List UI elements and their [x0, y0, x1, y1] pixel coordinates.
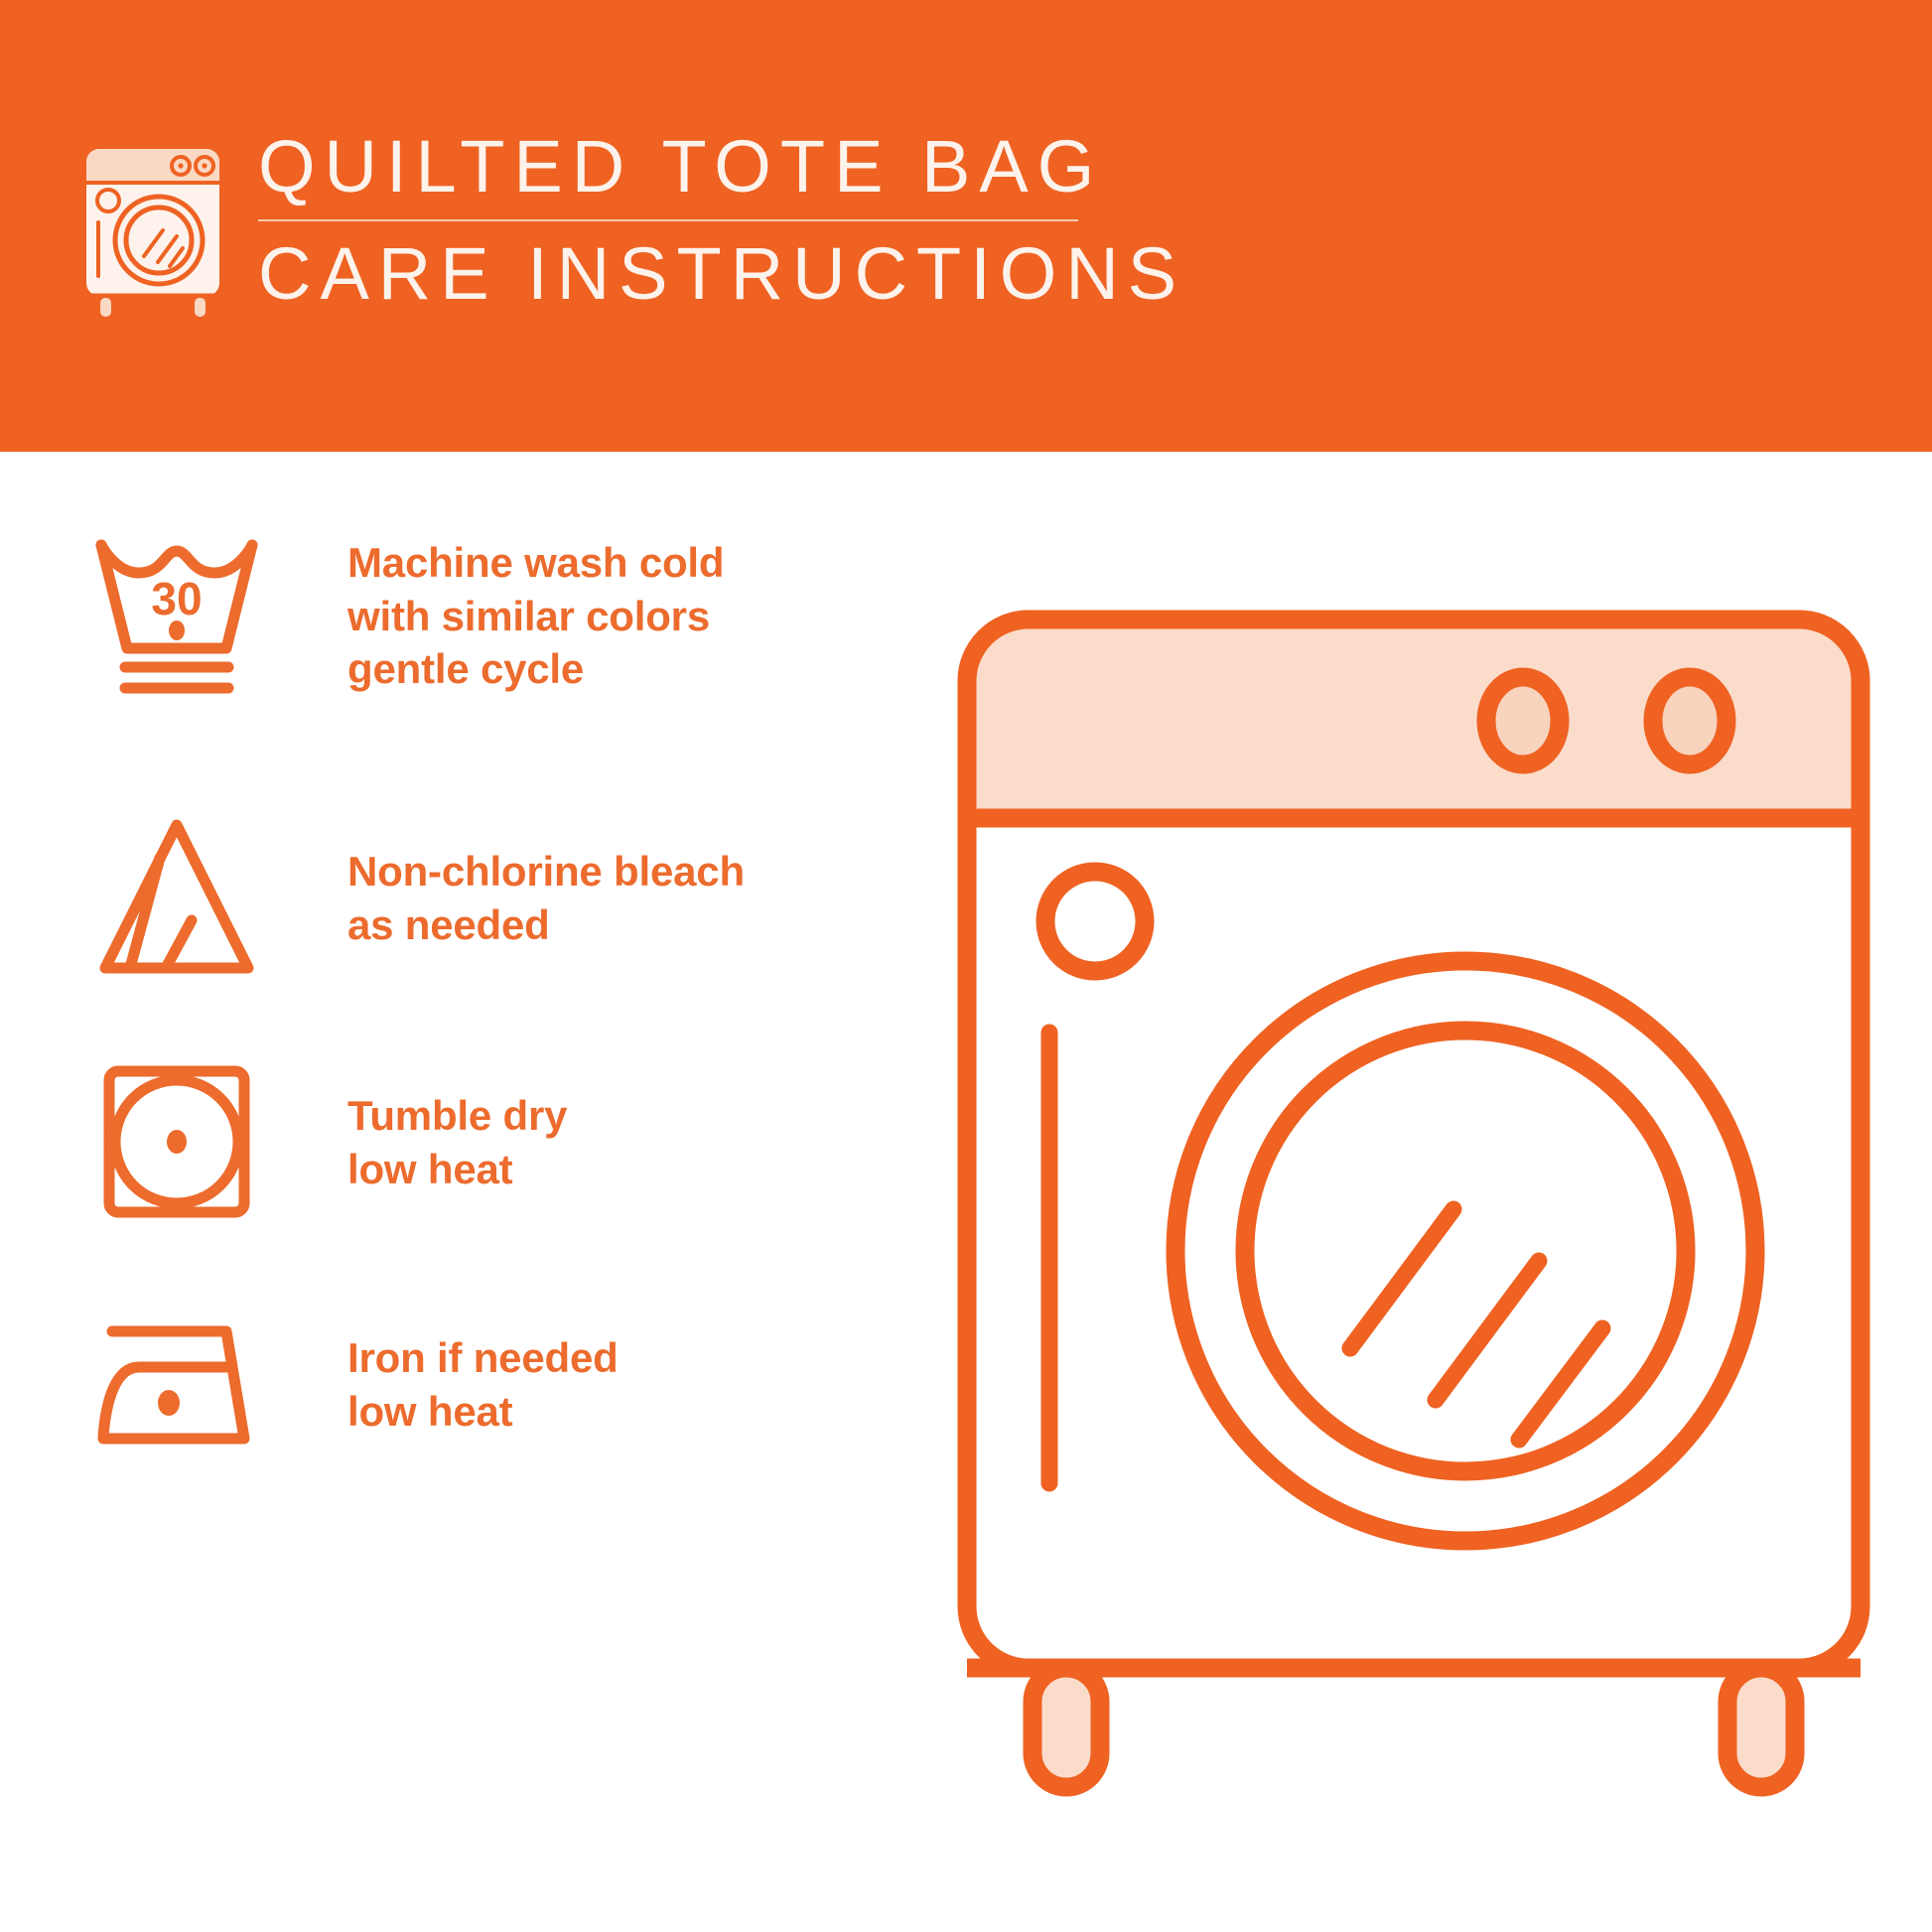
iron-low-heat-icon [77, 1298, 276, 1471]
tumble-dry-low-heat-icon [77, 1055, 276, 1229]
svg-text:30: 30 [151, 573, 202, 624]
header-content: QUILTED TOTE BAG CARE INSTRUCTIONS [77, 131, 1185, 320]
washing-machine-illustration [953, 606, 1876, 1827]
non-chlorine-bleach-triangle-icon [77, 811, 276, 985]
care-instructions-list: 30 Machine wash cold with similar colors… [0, 452, 953, 1932]
washing-machine-icon [77, 141, 228, 320]
leg-left [1033, 1668, 1100, 1787]
care-row-iron: Iron if needed low heat [0, 1298, 953, 1471]
care-instructions-card: QUILTED TOTE BAG CARE INSTRUCTIONS [0, 0, 1932, 1932]
header-text-block: QUILTED TOTE BAG CARE INSTRUCTIONS [252, 131, 1185, 311]
header-banner: QUILTED TOTE BAG CARE INSTRUCTIONS [0, 0, 1932, 452]
care-row-bleach: Non-chlorine bleach as needed [0, 811, 953, 985]
machine-wash-30-gentle-icon: 30 [77, 529, 276, 703]
care-label-tumble-dry: Tumble dry low heat [347, 1089, 567, 1196]
page-subtitle: CARE INSTRUCTIONS [252, 237, 1185, 311]
page-title: QUILTED TOTE BAG [252, 131, 1185, 202]
care-label-bleach: Non-chlorine bleach as needed [347, 845, 745, 952]
knob-left [1486, 677, 1560, 764]
knob-right [1653, 677, 1726, 764]
care-label-machine-wash: Machine wash cold with similar colors ge… [347, 536, 724, 696]
care-row-tumble-dry: Tumble dry low heat [0, 1055, 953, 1229]
leg-right [1727, 1668, 1795, 1787]
care-row-machine-wash: 30 Machine wash cold with similar colors… [0, 529, 953, 703]
header-divider [258, 219, 1078, 221]
care-label-iron: Iron if needed low heat [347, 1331, 619, 1439]
